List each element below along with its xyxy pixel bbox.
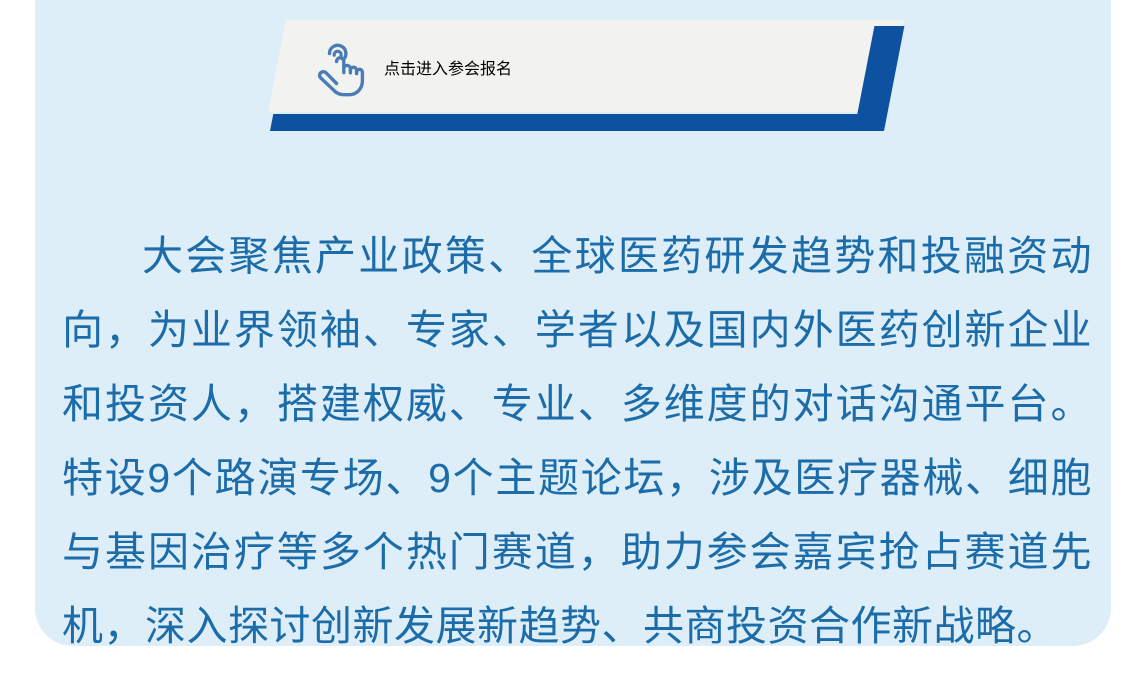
banner-underbar — [270, 114, 881, 131]
banner-content: 点击进入参会报名 — [258, 20, 898, 114]
hand-tap-icon — [310, 38, 366, 98]
cta-banner[interactable]: 点击进入参会报名 — [258, 20, 898, 132]
cta-banner-label: 点击进入参会报名 — [384, 55, 512, 79]
intro-paragraph: 大会聚焦产业政策、全球医药研发趋势和投融资动向，为业界领袖、专家、学者以及国内外… — [62, 219, 1092, 663]
